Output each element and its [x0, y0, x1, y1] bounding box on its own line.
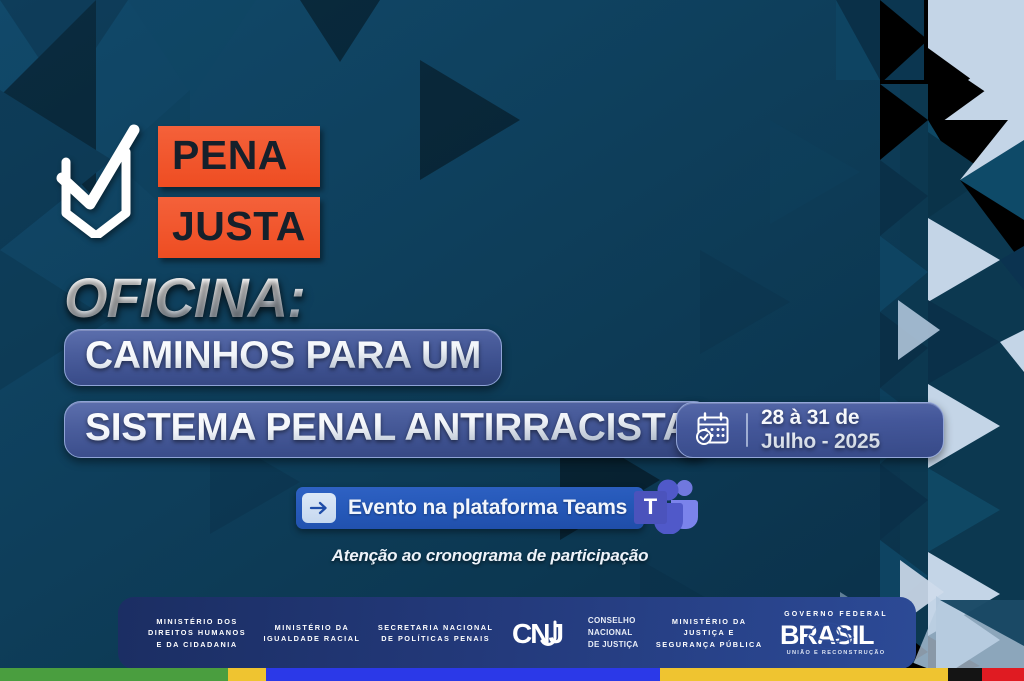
- date-line-2: Julho - 2025: [761, 430, 880, 454]
- strip-yellow-1: [228, 668, 268, 681]
- svg-text:T: T: [644, 494, 658, 519]
- headline-line-2-text: SISTEMA PENAL ANTIRRACISTA: [85, 407, 690, 449]
- cnj-logo-text: CONSELHO NACIONAL DE JUSTIÇA: [588, 615, 639, 651]
- teams-event-bar[interactable]: Evento na plataforma Teams: [296, 487, 644, 529]
- bottom-color-strip: [0, 668, 1024, 681]
- footer-logo-bar: MINISTÉRIO DOS DIREITOS HUMANOS E DA CID…: [118, 597, 916, 669]
- headline-line-1: CAMINHOS PARA UM: [64, 329, 502, 386]
- org-ministerio-justica-seguranca: MINISTÉRIO DA JUSTIÇA E SEGURANÇA PÚBLIC…: [656, 616, 763, 650]
- check-shield-icon: [52, 118, 140, 238]
- strip-blue: [266, 668, 666, 681]
- cnj-line: NACIONAL: [588, 627, 639, 639]
- org-line: SEGURANÇA PÚBLICA: [656, 639, 763, 650]
- strip-yellow-2: [660, 668, 960, 681]
- cnj-line: CONSELHO: [588, 615, 639, 627]
- org-line: MINISTÉRIO DOS: [148, 616, 246, 627]
- org-ministerio-direitos-humanos: MINISTÉRIO DOS DIREITOS HUMANOS E DA CID…: [148, 616, 246, 650]
- schedule-note: Atenção ao cronograma de participação: [0, 546, 980, 566]
- org-line: JUSTIÇA E: [656, 627, 763, 638]
- teams-event-label: Evento na plataforma Teams: [348, 496, 627, 520]
- org-line: MINISTÉRIO DA: [263, 622, 360, 633]
- poster-canvas: PENA JUSTA OFICINA: CAMINHOS PARA UM SIS…: [0, 0, 1024, 681]
- arrow-right-icon[interactable]: [302, 493, 336, 523]
- date-line-1: 28 à 31 de: [761, 406, 880, 430]
- org-line: SECRETARIA NACIONAL: [378, 622, 494, 633]
- brand-lockup: PENA JUSTA: [52, 118, 320, 258]
- calendar-check-icon: [693, 410, 733, 450]
- org-line: MINISTÉRIO DA: [656, 616, 763, 627]
- strip-red: [982, 668, 1024, 681]
- governo-federal-tagline: UNIÃO E RECONSTRUÇÃO: [787, 650, 886, 656]
- microsoft-teams-icon: T: [632, 478, 698, 534]
- date-badge-divider: [746, 413, 748, 447]
- brasil-wordmark-icon: BRASIL: [780, 619, 892, 649]
- wordmark-pena: PENA: [158, 126, 320, 187]
- org-line: DIREITOS HUMANOS: [148, 627, 246, 638]
- wordmark-justa: JUSTA: [158, 197, 320, 258]
- cnj-line: DE JUSTIÇA: [588, 639, 639, 651]
- org-ministerio-igualdade-racial: MINISTÉRIO DA IGUALDADE RACIAL: [263, 622, 360, 645]
- org-line: IGUALDADE RACIAL: [263, 633, 360, 644]
- pena-justa-mark: [52, 118, 140, 238]
- headline-line-2: SISTEMA PENAL ANTIRRACISTA: [64, 401, 711, 458]
- date-badge-text: 28 à 31 de Julho - 2025: [761, 406, 880, 453]
- governo-federal-logo: GOVERNO FEDERAL BRASIL UNIÃO E RECONSTRU…: [780, 611, 892, 656]
- date-badge: 28 à 31 de Julho - 2025: [676, 402, 944, 458]
- strip-black: [948, 668, 986, 681]
- org-secretaria-politicas-penais: SECRETARIA NACIONAL DE POLÍTICAS PENAIS: [378, 622, 494, 645]
- cnj-monogram-icon: CNJ: [511, 616, 581, 650]
- strip-green: [0, 668, 236, 681]
- org-line: E DA CIDADANIA: [148, 639, 246, 650]
- headline-kicker: OFICINA:: [64, 265, 305, 330]
- cnj-logo: CNJ CONSELHO NACIONAL DE JUSTIÇA: [511, 615, 639, 651]
- org-line: DE POLÍTICAS PENAIS: [378, 633, 494, 644]
- headline-line-1-text: CAMINHOS PARA UM: [85, 335, 481, 377]
- governo-federal-top: GOVERNO FEDERAL: [784, 611, 888, 618]
